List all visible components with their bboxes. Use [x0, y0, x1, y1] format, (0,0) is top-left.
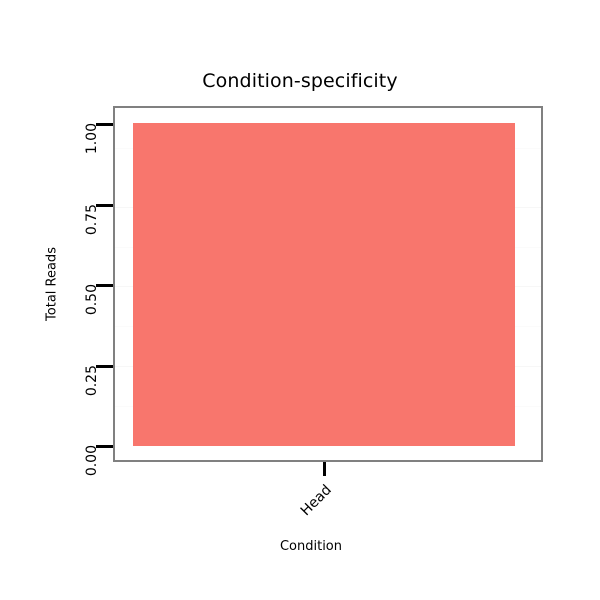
- x-axis-tick-label-text: Head: [298, 482, 335, 519]
- x-axis-tick: [323, 462, 326, 476]
- chart-title: Condition-specificity: [0, 70, 600, 92]
- plot-area: [115, 108, 541, 460]
- plot-panel: [113, 106, 543, 462]
- y-axis-title-text: Total Reads: [45, 247, 60, 321]
- y-axis-tick-label-text: 0.75: [84, 204, 100, 235]
- y-axis-tick-label-text: 0.25: [84, 365, 100, 396]
- y-axis-tick-label-text: 0.50: [84, 284, 100, 315]
- y-axis-tick-label-text: 0.00: [84, 445, 100, 476]
- bar-head[interactable]: [133, 123, 515, 446]
- y-axis-tick-label-text: 1.00: [84, 123, 100, 154]
- x-axis-title: Condition: [11, 539, 600, 554]
- chart-canvas: Condition-specificity 1.00 0.75 0.50 0.2…: [0, 0, 600, 600]
